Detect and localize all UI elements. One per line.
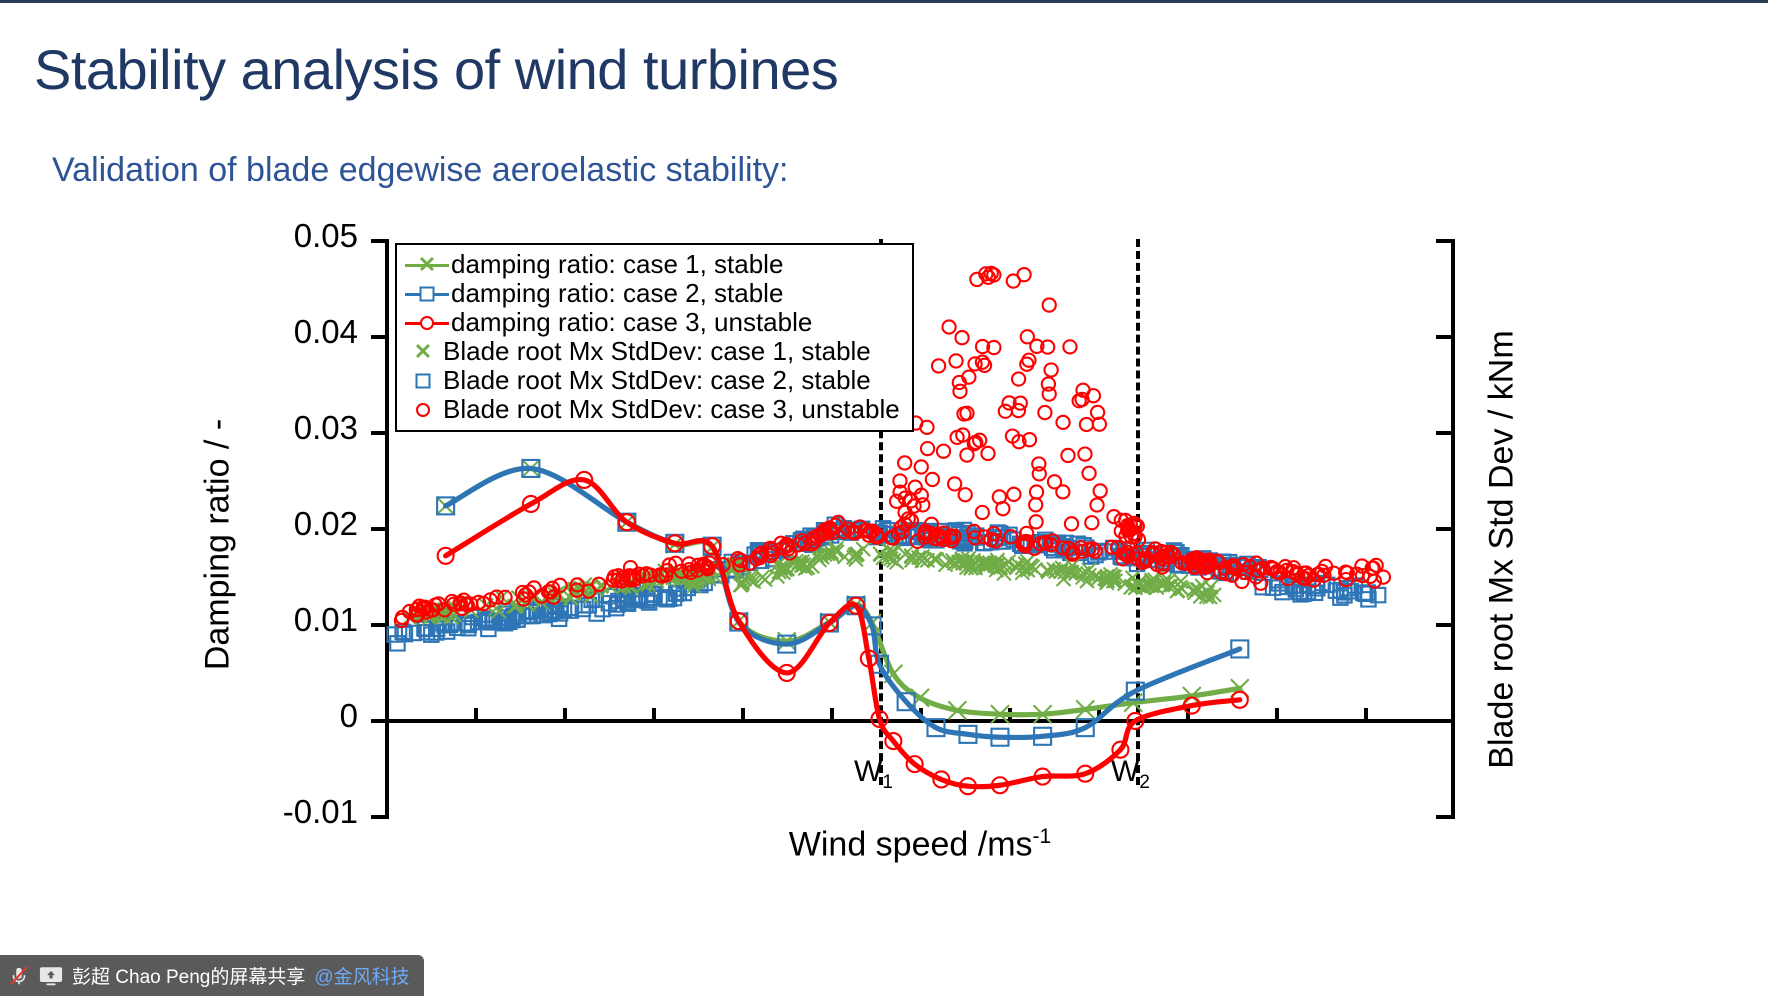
microphone-muted-icon[interactable] xyxy=(8,965,30,987)
legend-label: Blade root Mx StdDev: case 1, stable xyxy=(443,336,871,367)
legend-item: Blade root Mx StdDev: case 2, stable xyxy=(403,366,900,395)
legend-item: ✕ damping ratio: case 1, stable xyxy=(403,250,900,279)
legend-item: damping ratio: case 2, stable xyxy=(403,279,900,308)
legend-symbol-line-x-green: ✕ xyxy=(403,253,451,277)
page-title: Stability analysis of wind turbines xyxy=(34,37,838,102)
legend-symbol-circle-red xyxy=(403,398,443,422)
legend-item: Blade root Mx StdDev: case 3, unstable xyxy=(403,395,900,424)
legend-label: damping ratio: case 2, stable xyxy=(451,278,783,309)
presentation-slide: Stability analysis of wind turbines Vali… xyxy=(0,0,1768,996)
screen-share-taskbar: 彭超 Chao Peng的屏幕共享 @金风科技 xyxy=(0,955,424,996)
legend-symbol-square-blue xyxy=(403,369,443,393)
legend-item: damping ratio: case 3, unstable xyxy=(403,308,900,337)
stability-chart: Damping ratio / - Blade root Mx Std Dev … xyxy=(240,225,1570,865)
legend-label: Blade root Mx StdDev: case 2, stable xyxy=(443,365,871,396)
y-axis-title-left: Damping ratio / - xyxy=(199,419,238,670)
legend-symbol-x-green: ✕ xyxy=(403,340,443,364)
legend-label: damping ratio: case 1, stable xyxy=(451,249,783,280)
legend-label: Blade root Mx StdDev: case 3, unstable xyxy=(443,394,900,425)
chart-legend: ✕ damping ratio: case 1, stable damping … xyxy=(395,243,914,432)
legend-symbol-line-square-blue xyxy=(403,282,451,306)
legend-item: ✕ Blade root Mx StdDev: case 1, stable xyxy=(403,337,900,366)
legend-symbol-line-circle-red xyxy=(403,311,451,335)
slide-subtitle: Validation of blade edgewise aeroelastic… xyxy=(52,151,788,190)
screen-share-icon[interactable] xyxy=(39,965,63,987)
legend-label: damping ratio: case 3, unstable xyxy=(451,307,812,338)
share-org-tag: @金风科技 xyxy=(314,962,409,989)
share-owner-label: 彭超 Chao Peng的屏幕共享 xyxy=(72,962,305,989)
